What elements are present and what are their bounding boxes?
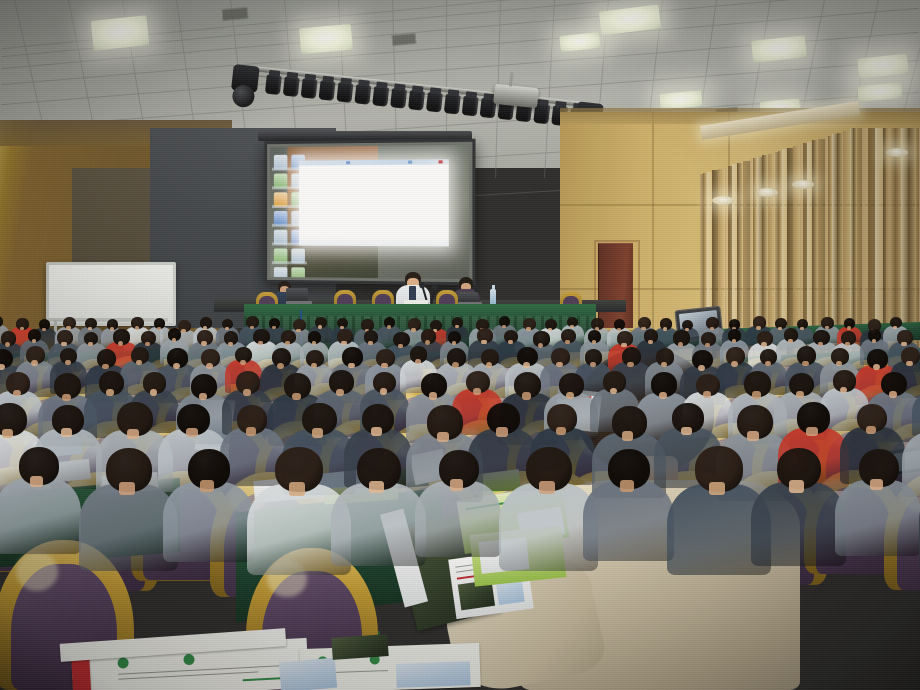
audience-neck bbox=[592, 340, 597, 344]
truss-lamp-10 bbox=[426, 92, 443, 113]
audience-neck bbox=[243, 389, 251, 396]
audience-neck bbox=[703, 391, 711, 398]
audience-member bbox=[751, 448, 846, 576]
audience-neck bbox=[747, 431, 759, 441]
desktop-icon-column-1[interactable] bbox=[274, 155, 289, 279]
audience-neck bbox=[752, 391, 761, 399]
truss-lamp-9 bbox=[408, 90, 425, 111]
conference-hall-photograph: Audience seated at green-skirted banquet… bbox=[0, 0, 920, 690]
audience-neck bbox=[368, 341, 373, 345]
audience-neck bbox=[522, 392, 531, 400]
audience-neck bbox=[450, 479, 464, 490]
desktop-icon[interactable] bbox=[274, 230, 288, 245]
audience-neck bbox=[452, 341, 457, 345]
audience-neck bbox=[523, 362, 530, 368]
audience-neck bbox=[437, 432, 449, 442]
audience-torso bbox=[835, 480, 920, 556]
desktop-icon[interactable] bbox=[274, 267, 288, 279]
audience-neck bbox=[731, 361, 737, 366]
audience-neck bbox=[0, 364, 5, 370]
audience-neck bbox=[539, 481, 555, 494]
audience-neck bbox=[627, 362, 634, 368]
audience-neck bbox=[425, 340, 430, 344]
audience-neck bbox=[566, 392, 575, 399]
truss-lamp-3 bbox=[301, 78, 318, 99]
audience-neck bbox=[200, 480, 214, 492]
audience-neck bbox=[369, 481, 384, 493]
audience-neck bbox=[206, 363, 212, 368]
audience-torso bbox=[583, 481, 673, 561]
audience-neck bbox=[622, 431, 634, 441]
desktop-icon[interactable] bbox=[274, 211, 288, 226]
audience-neck bbox=[659, 392, 668, 399]
audience-neck bbox=[556, 362, 562, 367]
audience-neck bbox=[661, 362, 667, 367]
audience-neck bbox=[870, 479, 884, 490]
audience-member bbox=[583, 449, 673, 571]
audience-neck bbox=[698, 365, 705, 371]
ceiling-light-1 bbox=[91, 15, 150, 51]
audience-neck bbox=[127, 429, 139, 439]
audience-neck bbox=[866, 426, 876, 434]
audience-neck bbox=[61, 428, 72, 437]
projected-application-window[interactable] bbox=[299, 159, 449, 246]
audience-torso bbox=[415, 481, 501, 557]
audience-neck bbox=[380, 388, 388, 394]
desktop-icon[interactable] bbox=[274, 192, 288, 207]
pelmet-light-4 bbox=[886, 148, 908, 157]
audience-torso bbox=[331, 483, 426, 567]
truss-lamp-1 bbox=[265, 75, 282, 96]
audience-neck bbox=[387, 325, 391, 328]
audience-member bbox=[163, 449, 253, 571]
projection-screen-surface bbox=[270, 145, 469, 279]
audience-neck bbox=[119, 482, 135, 495]
truss-lamp-11 bbox=[444, 94, 461, 115]
window-title-bar bbox=[299, 159, 449, 165]
audience-member bbox=[331, 448, 426, 576]
audience-neck bbox=[348, 363, 355, 369]
desktop-icon[interactable] bbox=[274, 155, 288, 170]
ceiling-light-2 bbox=[299, 24, 353, 54]
audience-neck bbox=[145, 342, 150, 346]
handout-blue-bottom bbox=[279, 658, 337, 690]
audience-neck bbox=[788, 339, 793, 343]
audience-neck bbox=[285, 341, 290, 345]
audience-neck bbox=[150, 389, 158, 395]
pelmet-light-1 bbox=[712, 196, 734, 205]
audience-torso bbox=[163, 482, 253, 562]
ceiling-vent-2 bbox=[392, 33, 417, 46]
audience-neck bbox=[65, 360, 71, 365]
truss-lamp-12 bbox=[462, 96, 479, 117]
audience-neck bbox=[5, 342, 10, 346]
pelmet-light-3 bbox=[792, 180, 814, 189]
handout-photo-strip bbox=[331, 634, 388, 660]
truss-lamp-8 bbox=[390, 88, 407, 109]
audience-neck bbox=[590, 362, 596, 367]
audience-neck bbox=[710, 327, 714, 331]
audience-neck bbox=[681, 427, 692, 436]
audience-neck bbox=[873, 364, 880, 370]
audience-neck bbox=[906, 361, 912, 366]
audience-neck bbox=[570, 325, 574, 328]
audience-neck bbox=[341, 341, 346, 345]
pelmet-light-2 bbox=[756, 188, 778, 197]
audience-neck bbox=[311, 363, 317, 368]
audience-neck bbox=[620, 480, 634, 492]
audience-neck bbox=[371, 427, 382, 436]
truss-lamp-4 bbox=[319, 80, 336, 101]
audience-neck bbox=[106, 389, 115, 396]
audience-neck bbox=[761, 342, 766, 346]
audience-neck bbox=[429, 392, 438, 399]
desktop-icon[interactable] bbox=[291, 249, 305, 264]
projection-screen bbox=[264, 139, 475, 286]
audience-neck bbox=[31, 360, 37, 365]
audience-neck bbox=[30, 476, 44, 487]
desktop-icon[interactable] bbox=[274, 248, 288, 263]
audience-neck bbox=[381, 363, 387, 368]
audience-neck bbox=[452, 362, 459, 368]
audience-neck bbox=[847, 326, 851, 329]
desktop-icon[interactable] bbox=[291, 267, 305, 279]
truss-lamp-7 bbox=[372, 86, 389, 107]
audience-neck bbox=[705, 343, 710, 347]
audience-neck bbox=[336, 389, 345, 396]
audience-neck bbox=[481, 340, 486, 344]
audience-neck bbox=[765, 361, 771, 366]
audience-neck bbox=[648, 340, 653, 344]
audience-neck bbox=[102, 364, 109, 370]
audience-neck bbox=[796, 391, 805, 398]
truss-lamp-2 bbox=[283, 77, 300, 98]
audience-neck bbox=[136, 360, 142, 365]
audience-neck bbox=[2, 429, 14, 439]
audience-neck bbox=[228, 342, 233, 346]
audience-neck bbox=[789, 480, 804, 492]
audience-neck bbox=[246, 427, 256, 435]
audience-neck bbox=[836, 361, 842, 366]
audience-neck bbox=[186, 428, 197, 437]
audience-neck bbox=[62, 394, 71, 402]
audience-neck bbox=[486, 362, 492, 367]
audience-neck bbox=[845, 342, 850, 346]
audience-neck bbox=[565, 340, 570, 344]
audience-neck bbox=[709, 482, 725, 495]
ceiling-vent-1 bbox=[222, 7, 249, 21]
audience-neck bbox=[312, 428, 324, 438]
audience-neck bbox=[496, 427, 507, 436]
audience-neck bbox=[806, 427, 817, 436]
audience-neck bbox=[61, 342, 66, 346]
audience-member bbox=[0, 447, 81, 563]
audience-neck bbox=[556, 427, 566, 435]
audience-neck bbox=[201, 341, 206, 345]
truss-lamp-6 bbox=[354, 84, 371, 105]
audience-neck bbox=[240, 360, 246, 365]
truss-lamp-5 bbox=[336, 82, 353, 103]
audience-neck bbox=[292, 393, 301, 401]
audience-neck bbox=[901, 342, 906, 346]
audience-neck bbox=[277, 363, 284, 369]
audience-neck bbox=[872, 339, 877, 343]
audience-torso bbox=[751, 482, 846, 566]
audience-neck bbox=[13, 390, 21, 397]
desktop-icon[interactable] bbox=[274, 174, 288, 189]
audience-torso bbox=[0, 478, 81, 554]
audience-neck bbox=[32, 339, 37, 343]
audience-neck bbox=[173, 363, 180, 369]
audience-member bbox=[415, 450, 501, 566]
audience-neck bbox=[225, 327, 229, 330]
audience-neck bbox=[473, 388, 481, 395]
audience-neck bbox=[289, 482, 305, 495]
audience-member bbox=[835, 449, 920, 565]
audience-neck bbox=[502, 325, 506, 328]
audience-neck bbox=[415, 359, 421, 364]
exit-door[interactable] bbox=[598, 243, 633, 328]
audience-neck bbox=[756, 326, 760, 330]
